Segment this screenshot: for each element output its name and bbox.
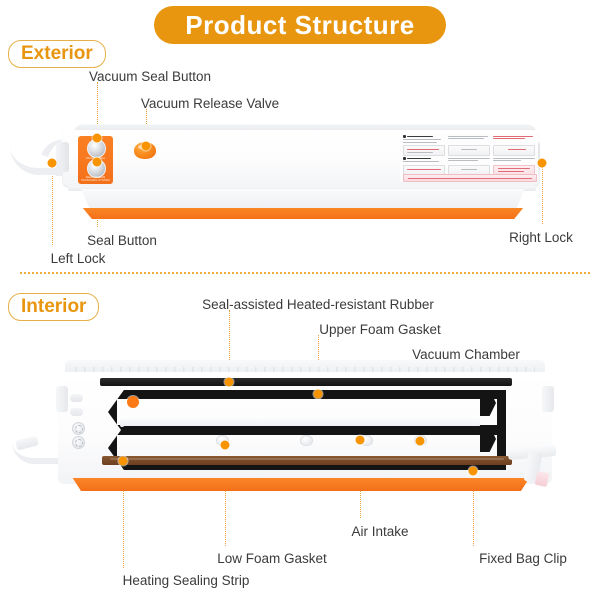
seal-assisted-rubber-part — [100, 378, 512, 386]
callout-label-seal-assisted-rubber: Seal-assisted Heated-resistant Rubber — [202, 298, 434, 312]
air-intake-nub-2 — [300, 435, 313, 446]
dot-seal-assisted-rubber — [225, 378, 234, 387]
interior-right-clip — [542, 386, 554, 412]
instruction-sticker — [400, 134, 538, 182]
dot-heating-sealing-strip — [119, 457, 128, 466]
device-lower-body — [72, 189, 534, 211]
dot-vacuum-release-valve — [142, 142, 151, 151]
dot-seal-button — [93, 158, 102, 167]
product-structure-diagram: Product Structure Exterior Vacuum Seal B… — [0, 0, 600, 600]
page-title: Product Structure — [154, 6, 446, 44]
heating-sealing-strip-part — [102, 456, 512, 465]
seal-button-caption: SEAL VACUUM PACKAGING SYSTEM — [80, 176, 111, 182]
interior-left-slot-2 — [70, 408, 83, 416]
dot-vacuum-chamber — [416, 437, 425, 446]
section-badge-exterior: Exterior — [8, 40, 106, 68]
interior-dial-1 — [72, 422, 85, 435]
dot-fixed-bag-clip — [469, 467, 478, 476]
callout-label-heating-sealing-strip: Heating Sealing Strip — [123, 574, 250, 588]
dot-air-intake — [356, 436, 365, 445]
dot-vacuum-seal-button — [93, 134, 102, 143]
dot-interior-highlight — [127, 396, 139, 408]
device-orange-base-strip — [76, 208, 530, 219]
fixed-bag-clip-pad — [535, 471, 550, 487]
dot-upper-foam-gasket — [314, 390, 323, 399]
exterior-device-illustration: VACUUM SEAL SEAL VACUUM PACKAGING SYSTEM — [10, 118, 555, 223]
callout-label-low-foam-gasket: Low Foam Gasket — [217, 552, 327, 566]
interior-dial-2 — [72, 436, 85, 449]
callout-label-left-lock: Left Lock — [51, 252, 106, 266]
interior-left-clip — [56, 386, 68, 412]
interior-device-illustration — [10, 360, 580, 505]
dot-low-foam-gasket — [221, 441, 230, 450]
section-badge-interior: Interior — [8, 293, 99, 321]
callout-label-vacuum-release-valve: Vacuum Release Valve — [141, 97, 279, 111]
callout-label-fixed-bag-clip: Fixed Bag Clip — [479, 552, 567, 566]
callout-label-vacuum-seal-button: Vacuum Seal Button — [89, 70, 211, 84]
section-divider — [20, 272, 590, 274]
dot-right-lock — [538, 159, 547, 168]
callout-label-air-intake: Air Intake — [351, 525, 408, 539]
dot-left-lock — [48, 159, 57, 168]
instruction-warning-bar — [403, 174, 537, 182]
vacuum-chamber-part — [120, 418, 480, 427]
callout-label-upper-foam-gasket: Upper Foam Gasket — [319, 323, 441, 337]
callout-label-right-lock: Right Lock — [509, 231, 573, 245]
callout-label-seal-button: Seal Button — [87, 234, 157, 248]
interior-left-slot-1 — [70, 394, 83, 402]
interior-orange-base-strip — [67, 478, 535, 491]
